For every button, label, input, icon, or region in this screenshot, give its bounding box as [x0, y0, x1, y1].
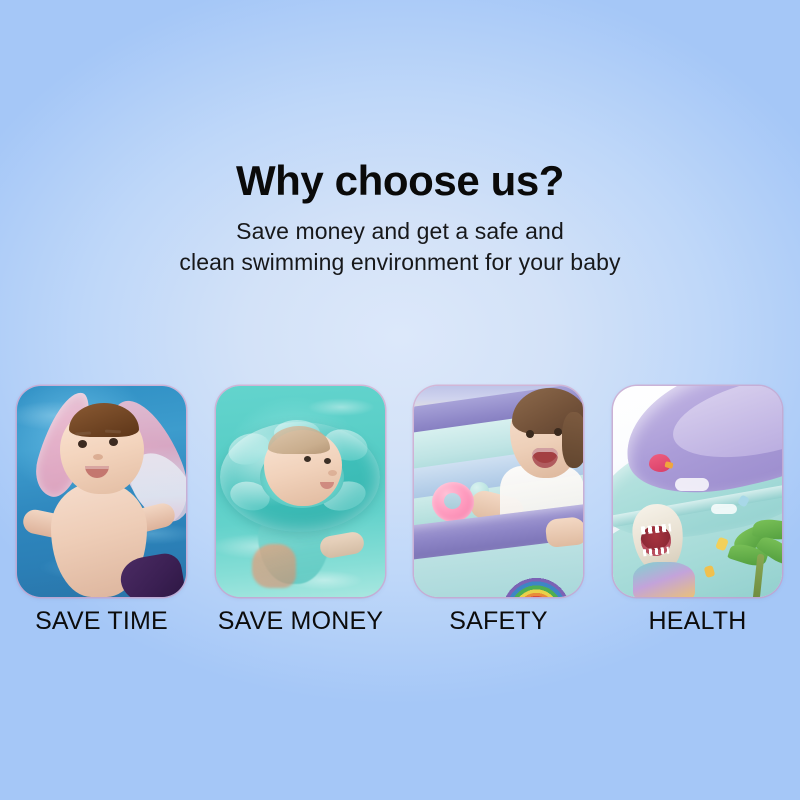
subtitle-line-1: Save money and get a safe and — [0, 216, 800, 247]
feature-caption-health: HEALTH — [613, 607, 782, 636]
cloud-print-1 — [675, 478, 709, 491]
page-subtitle: Save money and get a safe and clean swim… — [0, 216, 800, 277]
infant-nose — [328, 470, 337, 476]
feature-image-row — [0, 386, 800, 598]
toddler-hair-side — [562, 412, 583, 468]
infant-eye-left — [304, 456, 311, 462]
feature-caption-save-time: SAVE TIME — [17, 607, 186, 636]
feature-image-save-time[interactable] — [17, 386, 186, 597]
feature-image-save-money[interactable] — [216, 386, 385, 597]
baby-eye-left — [78, 440, 87, 448]
infant-neck-float-illustration — [216, 386, 385, 597]
donut-float-hole — [444, 493, 461, 509]
page-title: Why choose us? — [0, 160, 800, 202]
feature-card-save-time[interactable] — [17, 386, 186, 597]
toddler-hand-on-rim — [545, 516, 583, 548]
infant-swimsuit — [252, 544, 296, 588]
feature-caption-save-money: SAVE MONEY — [216, 607, 385, 636]
feature-image-health[interactable] — [613, 386, 782, 597]
baby-underwater-illustration — [17, 386, 186, 597]
toddler-eye-left — [526, 430, 534, 438]
why-choose-us-section: Why choose us? Save money and get a safe… — [0, 0, 800, 800]
toddler-eye-right — [554, 428, 562, 436]
feature-card-safety[interactable] — [414, 386, 583, 597]
shark-body-print — [633, 562, 695, 597]
feature-card-save-money[interactable] — [216, 386, 385, 597]
subtitle-line-2: clean swimming environment for your baby — [0, 247, 800, 278]
feature-caption-safety: SAFETY — [414, 607, 583, 636]
toddler-in-pool-illustration — [414, 386, 583, 597]
feature-card-health[interactable] — [613, 386, 782, 597]
baby-eye-right — [109, 438, 118, 446]
cloud-print-2 — [711, 504, 737, 514]
header-block: Why choose us? Save money and get a safe… — [0, 160, 800, 277]
inflatable-pool-closeup-illustration — [613, 386, 782, 597]
feature-caption-row: SAVE TIME SAVE MONEY SAFETY HEALTH — [0, 607, 800, 647]
feature-image-safety[interactable] — [414, 386, 583, 597]
infant-eye-right — [324, 458, 331, 464]
baby-nose — [93, 454, 103, 460]
